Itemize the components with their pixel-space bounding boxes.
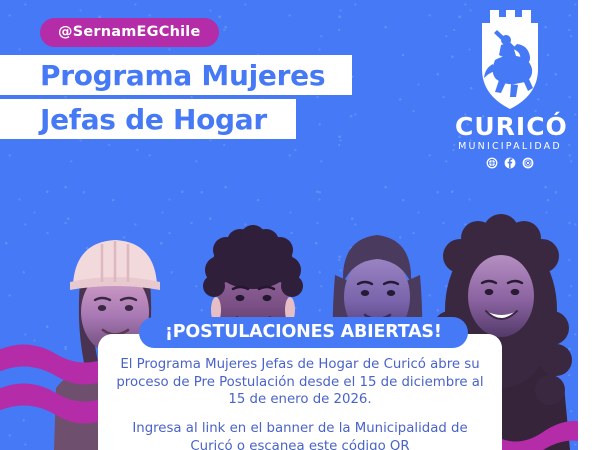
- curico-municipality-logo: CURICÓ MUNICIPALIDAD: [455, 8, 565, 169]
- body-paragraph-2: Ingresa al link en el banner de la Munic…: [116, 420, 484, 450]
- globe-icon[interactable]: [486, 157, 498, 169]
- right-margin-strip: [578, 0, 600, 450]
- facebook-icon[interactable]: [504, 157, 516, 169]
- social-handle-badge: @SernamEGChile: [40, 18, 219, 47]
- title-bar-line-1: Programa Mujeres: [0, 55, 352, 95]
- applications-open-banner: ¡POSTULACIONES ABIERTAS!: [139, 317, 468, 348]
- poster-graphic: @SernamEGChile Programa Mujeres Jefas de…: [0, 0, 600, 450]
- logo-name: CURICÓ: [455, 114, 565, 139]
- logo-social-icons: [455, 157, 565, 169]
- page-title-line-2: Jefas de Hogar: [40, 103, 267, 136]
- info-card: El Programa Mujeres Jefas de Hogar de Cu…: [98, 334, 502, 450]
- shield-knight-icon: [473, 8, 547, 112]
- instagram-icon[interactable]: [522, 157, 534, 169]
- page-title-line-1: Programa Mujeres: [40, 59, 325, 92]
- logo-subtitle: MUNICIPALIDAD: [455, 141, 565, 152]
- title-bar-line-2: Jefas de Hogar: [0, 99, 296, 139]
- body-paragraph-1: El Programa Mujeres Jefas de Hogar de Cu…: [116, 356, 484, 409]
